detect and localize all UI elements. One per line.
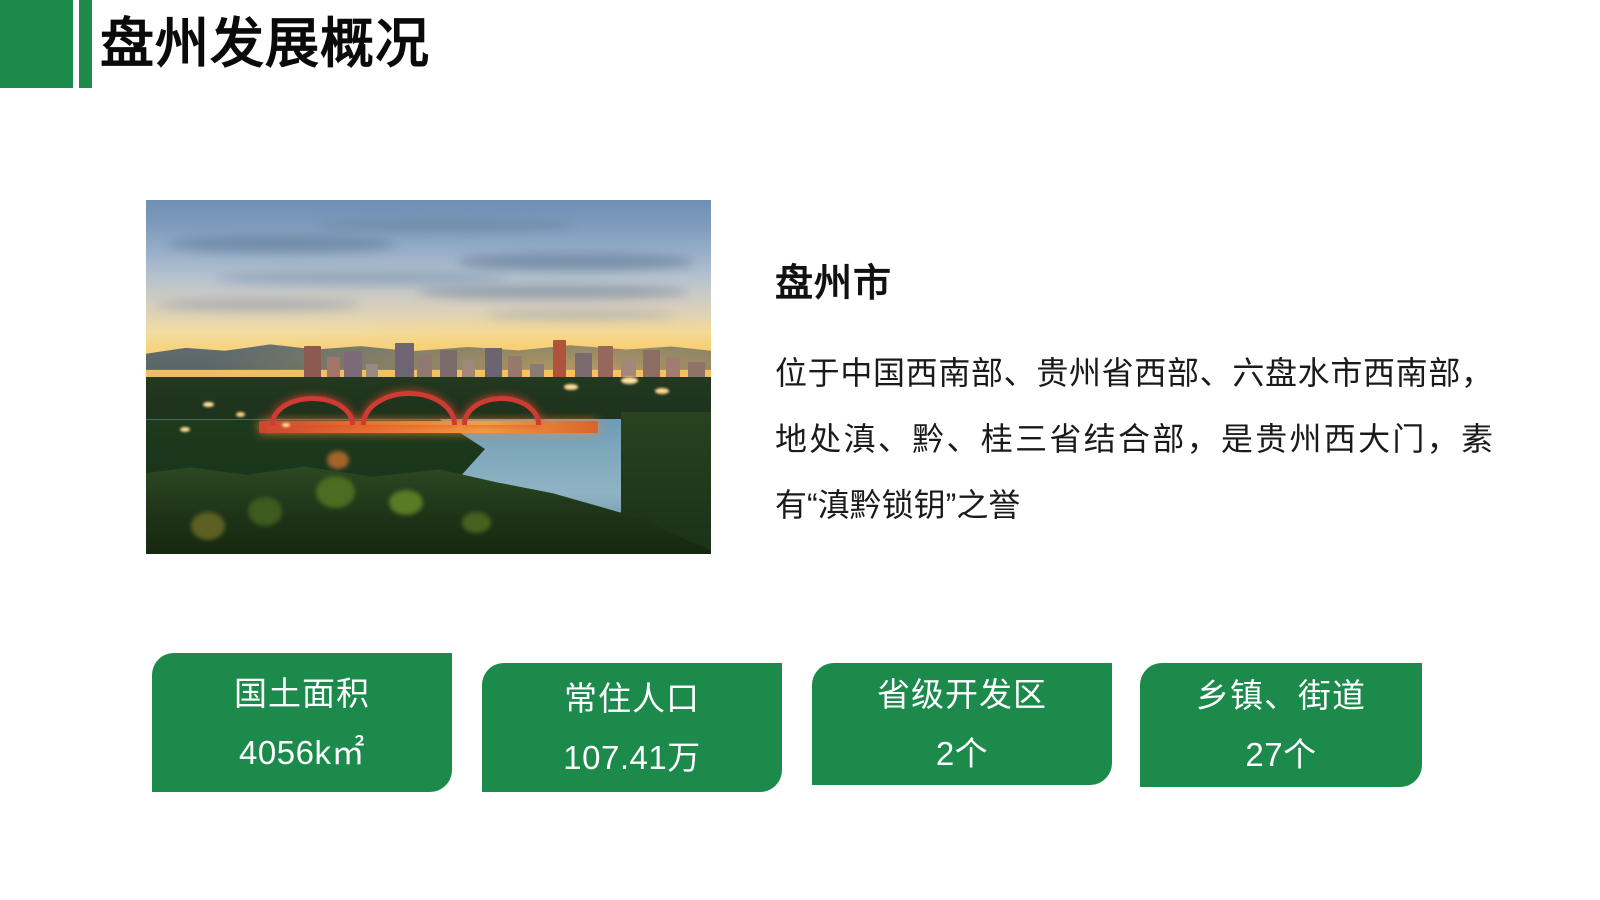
- stat-value: 4056k㎡: [239, 736, 365, 769]
- city-name-heading: 盘州市: [775, 252, 892, 307]
- cloud-shape: [457, 253, 694, 271]
- stat-value: 27个: [1245, 738, 1316, 771]
- stat-card-group: 国土面积 4056k㎡ 常住人口 107.41万 省级开发区 2个 乡镇、街道 …: [152, 653, 1422, 793]
- city-description: 位于中国西南部、贵州省西部、六盘水市西南部，地处滇、黔、桂三省结合部，是贵州西大…: [775, 340, 1493, 538]
- slide-root: 盘州发展概况: [0, 0, 1600, 900]
- header-accent-bar: [79, 0, 92, 88]
- stat-card-land-area[interactable]: 国土面积 4056k㎡: [152, 653, 452, 792]
- stat-label: 常住人口: [564, 682, 700, 715]
- stat-label: 国土面积: [234, 677, 370, 710]
- cloud-shape: [316, 218, 576, 232]
- cloud-shape: [214, 271, 508, 285]
- stat-value: 2个: [936, 737, 988, 770]
- stat-card-development-zones[interactable]: 省级开发区 2个: [812, 663, 1112, 785]
- header-accent-block: [0, 0, 73, 88]
- stat-card-townships[interactable]: 乡镇、街道 27个: [1140, 663, 1422, 787]
- page-title: 盘州发展概况: [100, 8, 430, 80]
- stat-value: 107.41万: [563, 741, 700, 774]
- city-photo: [146, 200, 711, 554]
- stat-card-population[interactable]: 常住人口 107.41万: [482, 663, 782, 792]
- cloud-shape: [169, 235, 395, 253]
- stat-label: 乡镇、街道: [1196, 679, 1366, 712]
- stat-label: 省级开发区: [877, 678, 1047, 711]
- cloud-shape: [417, 285, 688, 299]
